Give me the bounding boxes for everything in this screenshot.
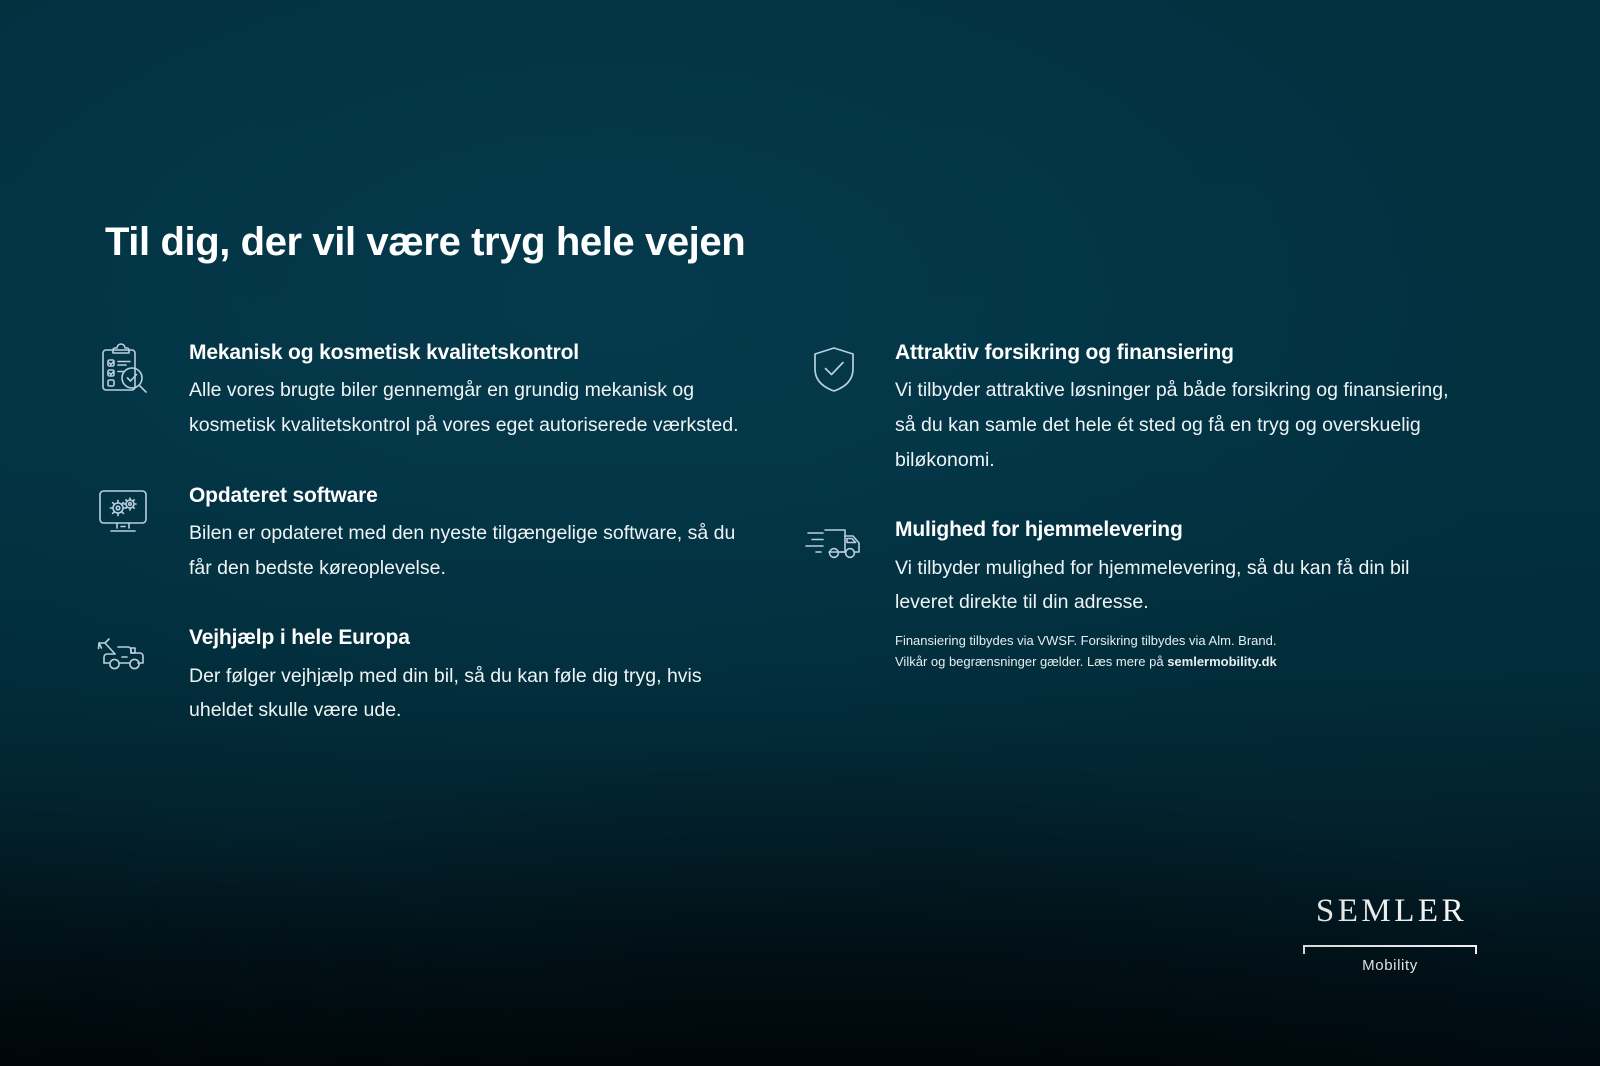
shield-check-icon xyxy=(805,340,863,396)
tow-truck-icon xyxy=(95,625,153,681)
feature-item-roadside-assistance: Vejhjælp i hele Europa Der følger vejhjæ… xyxy=(95,625,805,728)
logo-subtitle: Mobility xyxy=(1300,957,1480,974)
feature-title: Opdateret software xyxy=(189,483,805,509)
feature-text: Vi tilbyder mulighed for hjemmelevering,… xyxy=(895,551,1455,620)
monitor-gears-icon xyxy=(95,483,153,539)
feature-text: Vi tilbyder attraktive løsninger på både… xyxy=(895,373,1455,477)
feature-title: Attraktiv forsikring og finansiering xyxy=(895,340,1515,366)
delivery-truck-icon xyxy=(805,517,863,573)
logo-divider xyxy=(1300,941,1480,951)
disclaimer: Finansiering tilbydes via VWSF. Forsikri… xyxy=(895,630,1365,673)
semler-mobility-logo: SEMLER Mobility xyxy=(1300,895,1480,974)
feature-item-home-delivery: Mulighed for hjemmelevering Vi tilbyder … xyxy=(805,517,1515,673)
semlermobility-link[interactable]: semlermobility.dk xyxy=(1167,654,1277,669)
disclaimer-line-2-prefix: Vilkår og begrænsninger gælder. Læs mere… xyxy=(895,654,1167,669)
promo-panel: Til dig, der vil være tryg hele vejen xyxy=(0,0,1600,1066)
feature-body: Attraktiv forsikring og finansiering Vi … xyxy=(895,340,1515,477)
clipboard-check-magnifier-icon xyxy=(95,340,153,396)
feature-body: Opdateret software Bilen er opdateret me… xyxy=(189,483,805,586)
feature-column-right: Attraktiv forsikring og finansiering Vi … xyxy=(805,340,1515,728)
page-title: Til dig, der vil være tryg hele vejen xyxy=(105,220,745,264)
feature-body: Mekanisk og kosmetisk kvalitetskontrol A… xyxy=(189,340,805,443)
logo-divider-tick-left xyxy=(1303,945,1305,954)
logo-wordmark: SEMLER xyxy=(1300,895,1480,928)
logo-divider-bar xyxy=(1303,945,1477,947)
feature-text: Der følger vejhjælp med din bil, så du k… xyxy=(189,659,749,728)
feature-text: Bilen er opdateret med den nyeste tilgæn… xyxy=(189,516,749,585)
logo-divider-tick-right xyxy=(1475,945,1477,954)
feature-item-updated-software: Opdateret software Bilen er opdateret me… xyxy=(95,483,805,586)
feature-title: Mulighed for hjemmelevering xyxy=(895,517,1515,543)
disclaimer-line-2: Vilkår og begrænsninger gælder. Læs mere… xyxy=(895,651,1365,672)
feature-title: Mekanisk og kosmetisk kvalitetskontrol xyxy=(189,340,805,366)
feature-columns: Mekanisk og kosmetisk kvalitetskontrol A… xyxy=(95,340,1515,728)
feature-column-left: Mekanisk og kosmetisk kvalitetskontrol A… xyxy=(95,340,805,728)
feature-body: Vejhjælp i hele Europa Der følger vejhjæ… xyxy=(189,625,805,728)
feature-item-insurance-financing: Attraktiv forsikring og finansiering Vi … xyxy=(805,340,1515,477)
feature-title: Vejhjælp i hele Europa xyxy=(189,625,805,651)
feature-body: Mulighed for hjemmelevering Vi tilbyder … xyxy=(895,517,1515,673)
disclaimer-line-1: Finansiering tilbydes via VWSF. Forsikri… xyxy=(895,630,1365,651)
feature-text: Alle vores brugte biler gennemgår en gru… xyxy=(189,373,749,442)
feature-item-quality-control: Mekanisk og kosmetisk kvalitetskontrol A… xyxy=(95,340,805,443)
